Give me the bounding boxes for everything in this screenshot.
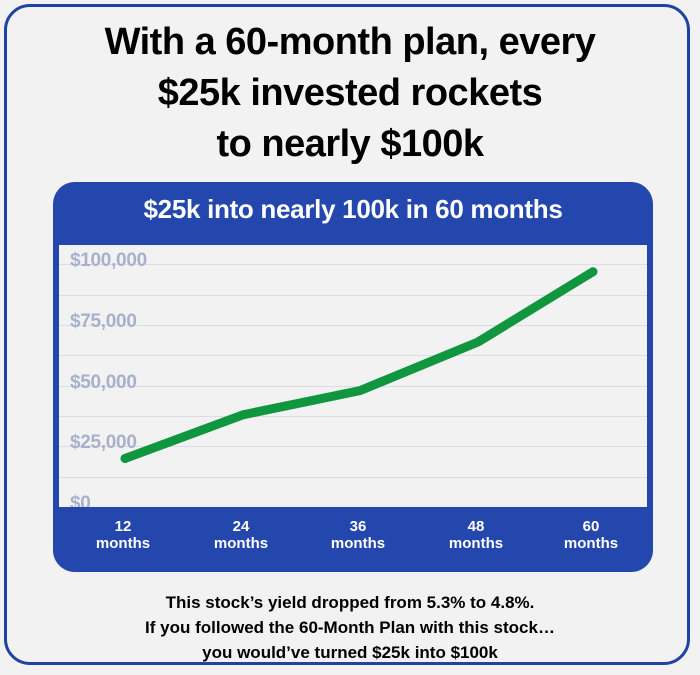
x-axis-tick-number: 60 bbox=[536, 518, 646, 535]
x-axis-tick-number: 48 bbox=[421, 518, 531, 535]
series-polyline bbox=[125, 272, 593, 459]
chart-card: $25k into nearly 100k in 60 months $100,… bbox=[53, 182, 653, 572]
chart-x-axis: 12months24months36months48months60months bbox=[53, 508, 653, 572]
x-axis-tick-unit: months bbox=[303, 535, 413, 552]
page-title: With a 60-month plan, every $25k investe… bbox=[7, 17, 693, 170]
x-axis-tick-unit: months bbox=[186, 535, 296, 552]
x-axis-tick-number: 36 bbox=[303, 518, 413, 535]
footer-line-2: If you followed the 60-Month Plan with t… bbox=[7, 615, 693, 640]
chart-plot-area: $100,000$75,000$50,000$25,000$0 bbox=[57, 245, 649, 507]
x-axis-tick-label: 36months bbox=[303, 518, 413, 552]
chart-line-series bbox=[59, 245, 649, 507]
x-axis-tick-label: 60months bbox=[536, 518, 646, 552]
headline-line-3: to nearly $100k bbox=[7, 119, 693, 170]
headline-line-1: With a 60-month plan, every bbox=[7, 17, 693, 68]
x-axis-tick-unit: months bbox=[536, 535, 646, 552]
x-axis-tick-number: 12 bbox=[68, 518, 178, 535]
x-axis-tick-label: 24months bbox=[186, 518, 296, 552]
footer-line-3: you would’ve turned $25k into $100k bbox=[7, 640, 693, 665]
footer-line-1: This stock’s yield dropped from 5.3% to … bbox=[7, 590, 693, 615]
x-axis-tick-unit: months bbox=[421, 535, 531, 552]
x-axis-tick-number: 24 bbox=[186, 518, 296, 535]
poster-frame: With a 60-month plan, every $25k investe… bbox=[4, 4, 690, 665]
footer-caption: This stock’s yield dropped from 5.3% to … bbox=[7, 590, 693, 665]
chart-title: $25k into nearly 100k in 60 months bbox=[53, 194, 653, 225]
x-axis-tick-label: 48months bbox=[421, 518, 531, 552]
x-axis-tick-label: 12months bbox=[68, 518, 178, 552]
x-axis-tick-unit: months bbox=[68, 535, 178, 552]
headline-line-2: $25k invested rockets bbox=[7, 68, 693, 119]
